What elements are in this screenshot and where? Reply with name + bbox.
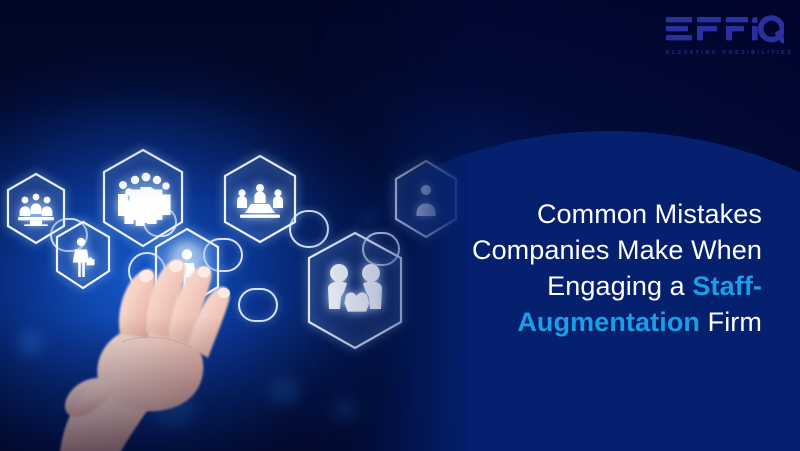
headline-accent-augmentation: Augmentation — [517, 307, 700, 337]
headline-line-1: Common Mistakes — [342, 196, 762, 232]
headline-line-3: Engaging a Staff- — [342, 268, 762, 304]
headline-line-2: Companies Make When — [342, 232, 762, 268]
headline-accent-staff: Staff- — [692, 271, 762, 301]
headline-line-3-text: Engaging a — [547, 271, 692, 301]
effiq-logo-mark — [666, 14, 784, 48]
headline-line-4: Augmentation Firm — [342, 304, 762, 340]
effiq-logo[interactable]: ELEVATING POSSIBILITIES — [666, 14, 784, 56]
headline-line-4-text: Firm — [700, 307, 762, 337]
blog-banner: ELEVATING POSSIBILITIES Common Mistakes … — [0, 0, 800, 451]
page-title: Common Mistakes Companies Make When Enga… — [342, 196, 762, 340]
effiq-logo-tagline: ELEVATING POSSIBILITIES — [666, 50, 784, 56]
